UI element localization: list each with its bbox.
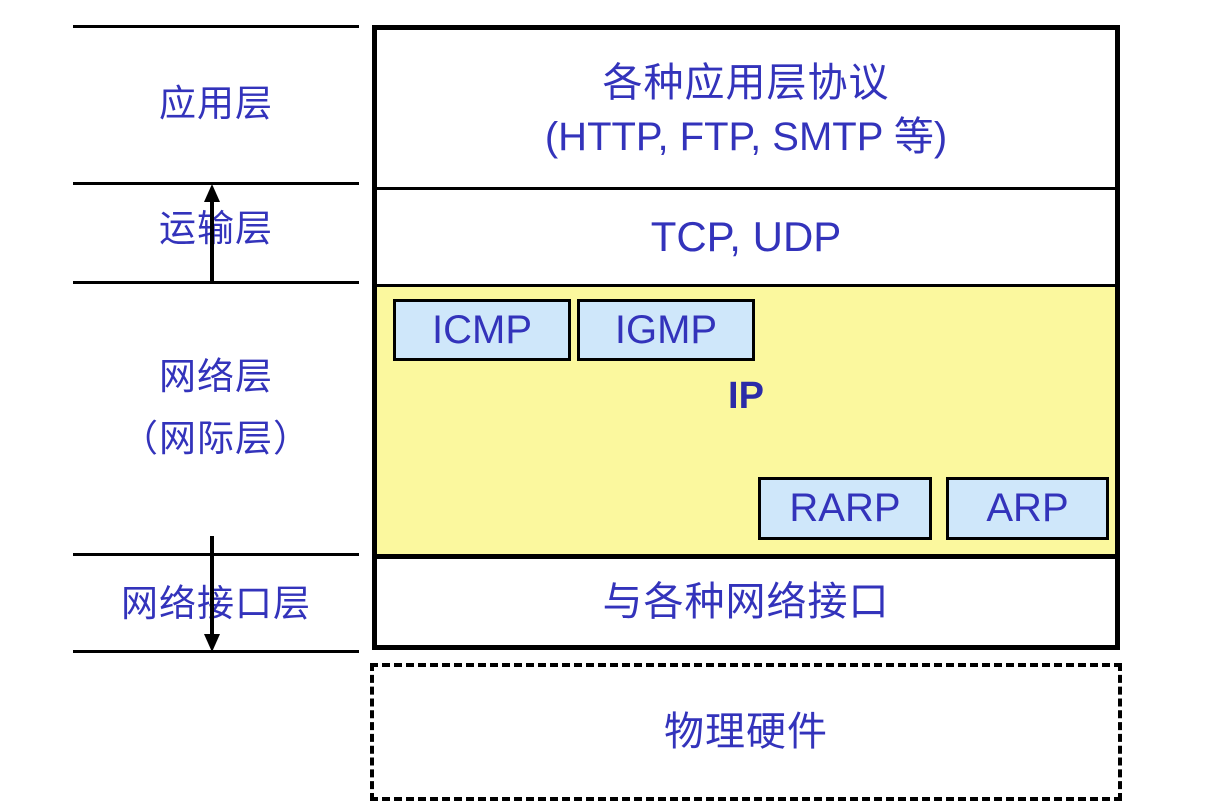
application-examples-etc: 等 — [894, 114, 934, 159]
tcpip-layer-diagram: 应用层 运输层 网络层 （网际层） 网络接口层 各种应用层协议 (HTTP, F… — [0, 0, 1212, 812]
protocol-box-igmp[interactable]: IGMP — [577, 299, 755, 361]
protocol-box-rarp[interactable]: RARP — [758, 477, 932, 540]
protocol-box-arp[interactable]: ARP — [946, 477, 1109, 540]
arrow-shaft-upper — [210, 198, 214, 282]
application-examples-prefix: (HTTP, FTP, SMTP — [545, 115, 894, 159]
network-layer-span-arrow — [204, 184, 220, 652]
application-examples-suffix: ) — [934, 115, 947, 159]
protocol-label-ip: IP — [377, 375, 1115, 418]
physical-hardware-box: 物理硬件 — [370, 663, 1122, 801]
transport-protocols-label: TCP, UDP — [651, 214, 842, 260]
application-protocols-examples: (HTTP, FTP, SMTP 等) — [377, 110, 1115, 164]
stack-row-application: 各种应用层协议 (HTTP, FTP, SMTP 等) — [377, 30, 1115, 190]
network-interface-label: 与各种网络接口 — [603, 575, 890, 629]
arrow-head-down-icon — [204, 634, 220, 652]
arrow-shaft-lower — [210, 536, 214, 636]
application-protocols-label: 各种应用层协议 — [377, 56, 1115, 110]
stack-row-transport: TCP, UDP — [377, 190, 1115, 287]
protocol-box-icmp[interactable]: ICMP — [393, 299, 571, 361]
physical-hardware-label: 物理硬件 — [664, 705, 828, 759]
stack-row-interface: 与各种网络接口 — [377, 559, 1115, 645]
stack-row-network: ICMP IGMP IP RARP ARP — [377, 287, 1115, 559]
divider-top — [73, 25, 359, 28]
layer-label-application: 应用层 — [73, 82, 359, 127]
protocol-stack-box: 各种应用层协议 (HTTP, FTP, SMTP 等) TCP, UDP ICM… — [372, 25, 1120, 650]
